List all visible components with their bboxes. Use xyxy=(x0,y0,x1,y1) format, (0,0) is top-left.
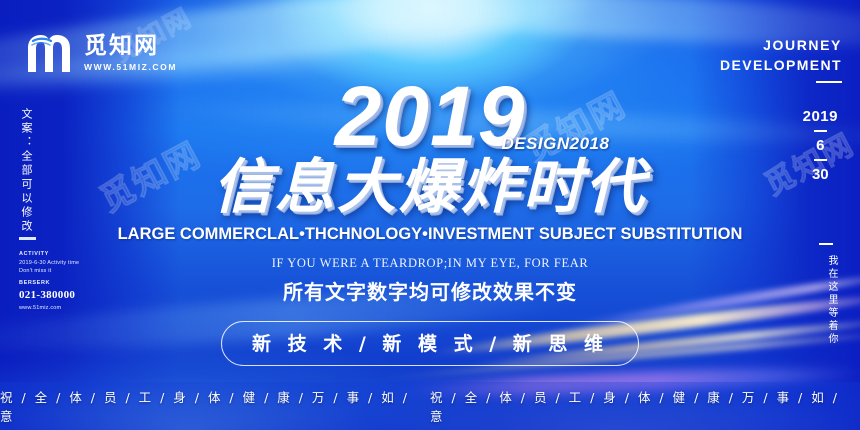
design-tag: DESIGN2018 xyxy=(501,135,609,152)
logo-url: WWW.51MIZ.COM xyxy=(84,62,177,72)
blessing-text-right: 祝 / 全 / 体 / 员 / 工 / 身 / 体 / 健 / 康 / 万 / … xyxy=(430,387,860,425)
logo-text: 觅知网 WWW.51MIZ.COM xyxy=(84,34,177,72)
logo-name: 觅知网 xyxy=(84,34,177,59)
site-logo[interactable]: 觅知网 WWW.51MIZ.COM xyxy=(24,32,177,74)
chinese-subtitle: 所有文字数字均可修改效果不变 xyxy=(0,276,860,305)
tagline-pill-button[interactable]: 新 技 术 / 新 模 式 / 新 思 维 xyxy=(221,321,639,366)
journey-line-2: DEVELOPMENT xyxy=(720,56,842,76)
year-block: 2019 DESIGN2018 xyxy=(335,74,526,158)
blessing-text-left: 祝 / 全 / 体 / 员 / 工 / 身 / 体 / 健 / 康 / 万 / … xyxy=(0,387,430,425)
m-logo-icon xyxy=(24,32,74,74)
main-content: 2019 DESIGN2018 信息大爆炸时代 LARGE COMMERCLAL… xyxy=(0,74,860,366)
year-headline: 2019 xyxy=(335,69,526,163)
bottom-blessing-bar: 祝 / 全 / 体 / 员 / 工 / 身 / 体 / 健 / 康 / 万 / … xyxy=(0,382,860,430)
english-quote: IF YOU WERE A TEARDROP;IN MY EYE, FOR FE… xyxy=(0,256,860,271)
journey-line-1: JOURNEY xyxy=(720,36,842,56)
english-subtitle: LARGE COMMERCLAL•THCHNOLOGY•INVESTMENT S… xyxy=(0,225,860,244)
poster-banner: 觅知网 觅知网 觅知网 觅知网 觅知网 WWW.51MIZ.COM 文案：全部可… xyxy=(0,0,860,430)
main-headline: 信息大爆炸时代 xyxy=(0,156,860,218)
